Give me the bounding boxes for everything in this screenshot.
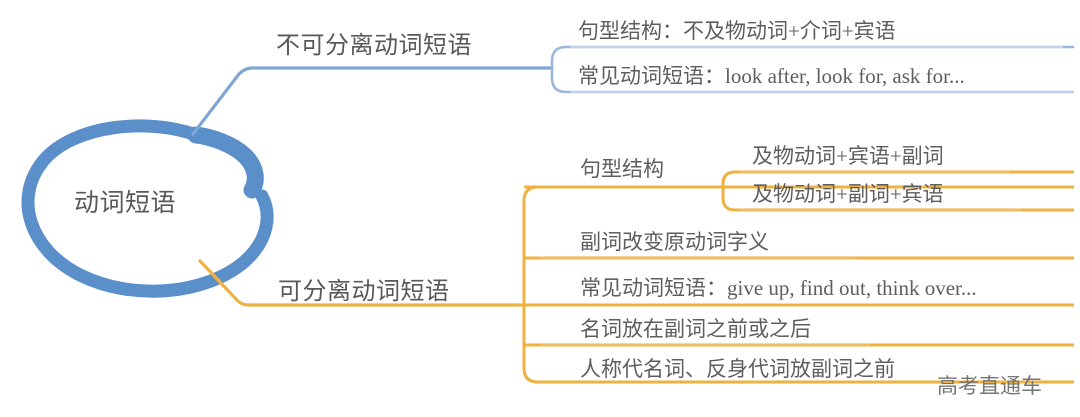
mind-map-canvas: 动词短语 不可分离动词短语 句型结构：不及物动词+介词+宾语 常见动词短语：lo… <box>0 0 1080 417</box>
leaf-inseparable-structure[interactable]: 句型结构：不及物动词+介词+宾语 <box>578 15 896 45</box>
watermark-text: 高考直通车 <box>937 370 1042 400</box>
leaf-noun-position[interactable]: 名词放在副词之前或之后 <box>580 313 811 343</box>
leaf-separable-structure[interactable]: 句型结构 <box>580 153 664 183</box>
leaf-separable-examples[interactable]: 常见动词短语：give up, find out, think over... <box>580 272 977 302</box>
branch-label-inseparable[interactable]: 不可分离动词短语 <box>276 25 472 60</box>
leaf-structure-vt-adv-obj[interactable]: 及物动词+副词+宾语 <box>752 178 944 208</box>
leaf-pronoun-position[interactable]: 人称代名词、反身代词放副词之前 <box>580 353 895 383</box>
leaf-structure-vt-obj-adv[interactable]: 及物动词+宾语+副词 <box>752 140 944 170</box>
branch-label-separable[interactable]: 可分离动词短语 <box>278 271 450 306</box>
leaf-adverb-changes-meaning[interactable]: 副词改变原动词字义 <box>580 226 769 256</box>
leaf-inseparable-examples[interactable]: 常见动词短语：look after, look for, ask for... <box>578 60 965 90</box>
root-node-label[interactable]: 动词短语 <box>74 183 176 219</box>
